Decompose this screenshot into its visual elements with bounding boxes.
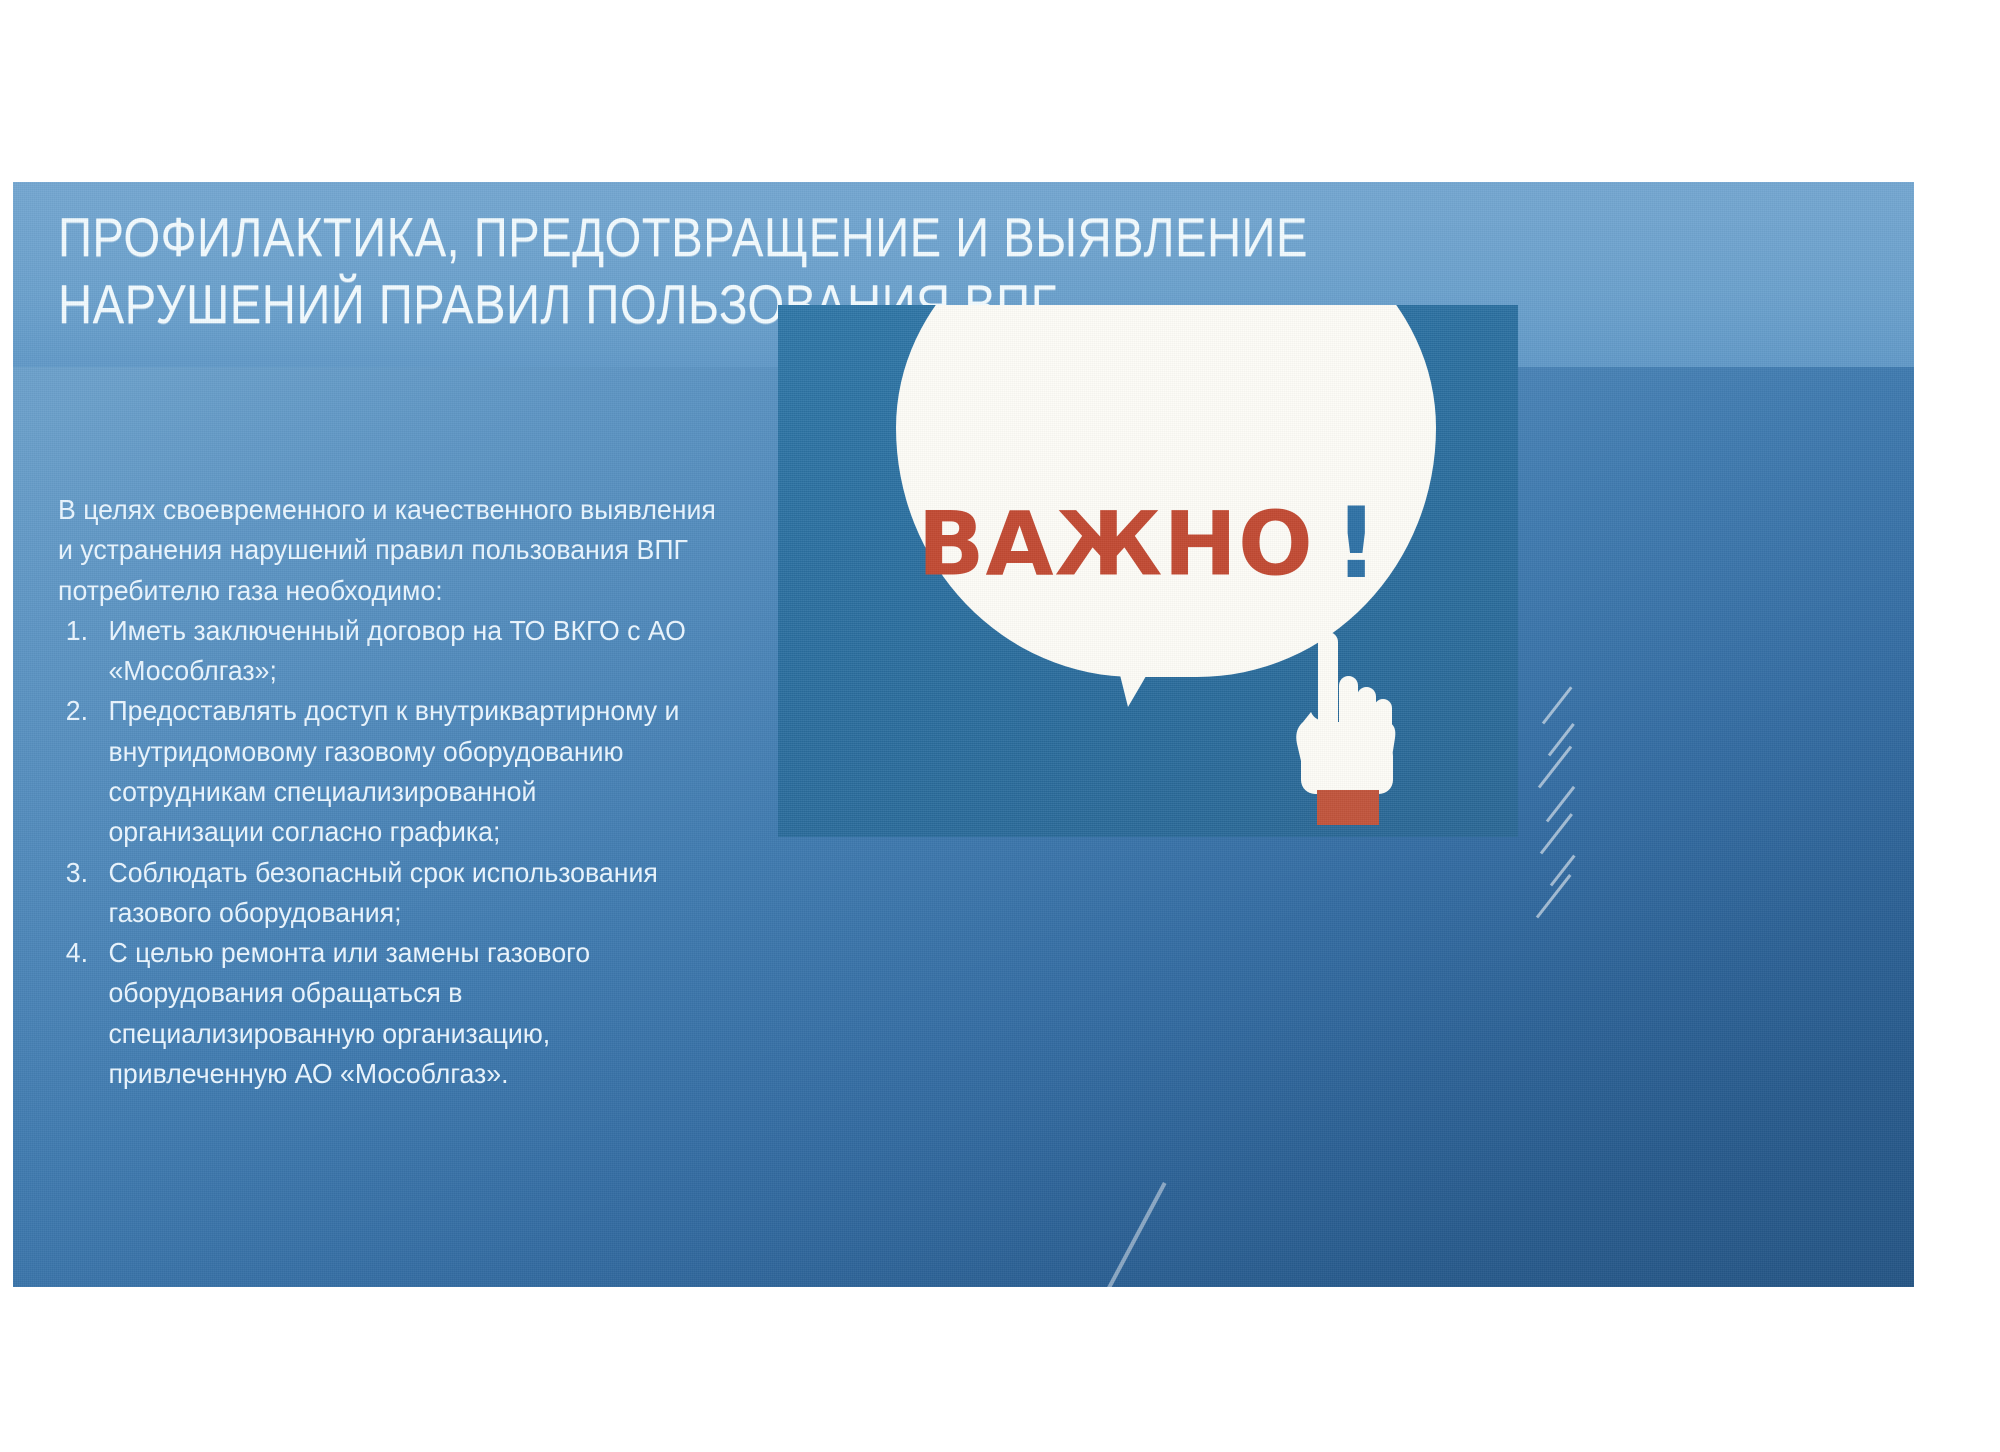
pointing-hand-icon (1283, 630, 1403, 825)
body-content: В целях своевременного и качественного в… (58, 490, 781, 1094)
list-item-text: С целью ремонта или замены газового обор… (108, 933, 780, 1094)
list-item: 1. Иметь заключенный договор на ТО ВКГО … (58, 611, 781, 692)
list-item-text: Иметь заключенный договор на ТО ВКГО с А… (108, 611, 780, 692)
list-item-number: 1. (58, 611, 108, 651)
list-item-text: Соблюдать безопасный срок использования … (108, 853, 780, 934)
list-item-text: Предоставлять доступ к внутриквартирному… (108, 691, 780, 852)
intro-paragraph: В целях своевременного и качественного в… (58, 490, 781, 611)
list-item-number: 2. (58, 691, 108, 731)
list-item: 4. С целью ремонта или замены газового о… (58, 933, 781, 1094)
list-item: 2. Предоставлять доступ к внутриквартирн… (58, 691, 781, 852)
speech-bubble-tail-icon (1110, 635, 1170, 707)
list-item: 3. Соблюдать безопасный срок использован… (58, 853, 781, 934)
slide-canvas: ПРОФИЛАКТИКА, ПРЕДОТВРАЩЕНИЕ И ВЫЯВЛЕНИЕ… (13, 182, 1914, 1287)
decorative-line (1076, 1182, 1166, 1287)
illustration-panel: ВАЖНО! (778, 305, 1518, 837)
list-item-number: 3. (58, 853, 108, 893)
decorative-scratches (1535, 702, 1655, 962)
important-word: ВАЖНО (917, 493, 1313, 596)
requirements-list: 1. Иметь заключенный договор на ТО ВКГО … (58, 611, 781, 1094)
bubble-caption: ВАЖНО! (778, 487, 1518, 601)
exclamation-mark-icon: ! (1334, 487, 1379, 601)
list-item-number: 4. (58, 933, 108, 973)
